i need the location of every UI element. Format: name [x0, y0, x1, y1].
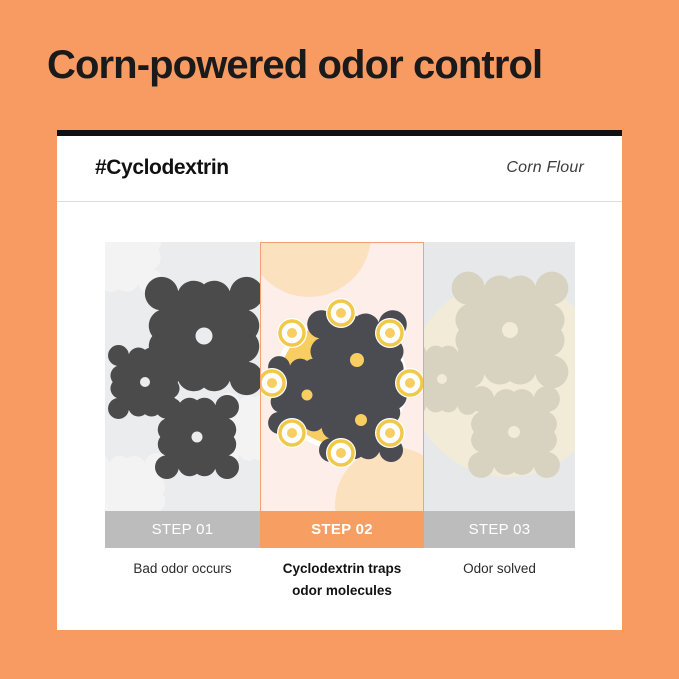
step-label-bar: STEP 01 STEP 02 STEP 03: [105, 511, 575, 548]
infographic-root: Corn-powered odor control #Cyclodextrin …: [0, 0, 679, 679]
hashtag-label: #Cyclodextrin: [95, 156, 229, 180]
step-caption-03: Odor solved: [424, 558, 575, 602]
step-1-illustration: [105, 242, 260, 517]
info-card: #Cyclodextrin Corn Flour: [57, 130, 622, 630]
page-title: Corn-powered odor control: [47, 40, 647, 90]
ingredient-label: Corn Flour: [506, 159, 584, 177]
step-label-01[interactable]: STEP 01: [105, 511, 260, 548]
step-caption-02: Cyclodextrin traps odor molecules: [260, 558, 424, 602]
step-caption-02-line2: odor molecules: [260, 580, 424, 602]
step-label-03[interactable]: STEP 03: [424, 511, 575, 548]
card-header: #Cyclodextrin Corn Flour: [57, 136, 622, 202]
step-label-02[interactable]: STEP 02: [260, 511, 424, 548]
cyclodextrin-capsule-icon: [261, 243, 423, 516]
step-2-illustration: [260, 242, 424, 517]
odor-molecule-icon: [105, 242, 260, 517]
step-caption-01: Bad odor occurs: [105, 558, 260, 602]
step-caption-02-line1: Cyclodextrin traps: [260, 558, 424, 580]
step-caption-row: Bad odor occurs Cyclodextrin traps odor …: [105, 558, 575, 602]
neutralized-molecule-icon: [424, 242, 575, 517]
step-3-illustration: [424, 242, 575, 517]
step-illustration-row: [105, 242, 575, 517]
